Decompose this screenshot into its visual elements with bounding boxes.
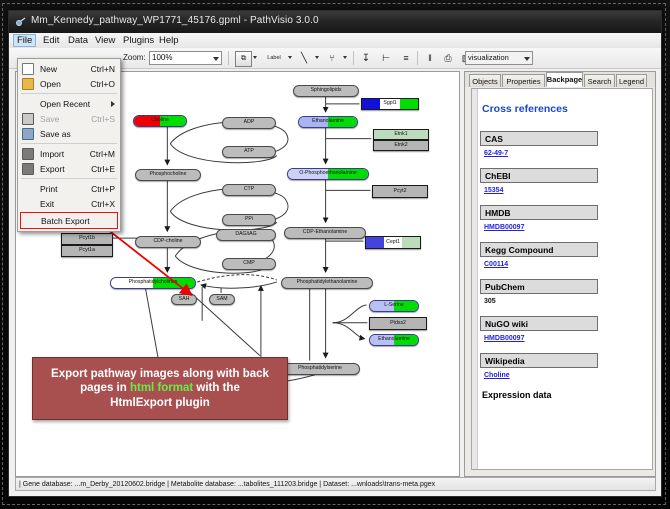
node-label: SAM	[216, 297, 227, 302]
node-label: ADP	[244, 120, 255, 125]
node-label: Pcyt1a	[79, 248, 95, 253]
tab-objects[interactable]: Objects	[469, 74, 501, 87]
file-menu-item-import[interactable]: ImportCtrl+M	[18, 146, 120, 161]
zoom-combobox[interactable]: 100%	[149, 51, 222, 65]
menu-item-file[interactable]: File	[13, 34, 36, 47]
file-menu-item-save: SaveCtrl+S	[18, 111, 120, 126]
file-menu-item-shortcut: Ctrl+N	[91, 64, 115, 74]
backpage-content: Cross references CAS62-49-7ChEBI15354HMD…	[480, 89, 650, 469]
node-label: CTP	[244, 187, 254, 192]
annotation-line2a: pages in	[80, 382, 130, 394]
pathway-node-metabolite[interactable]: Phosphocholine	[135, 169, 201, 181]
open-folder-icon	[22, 78, 34, 90]
file-menu-item-label: Batch Export	[41, 216, 90, 226]
visualization-combobox[interactable]: visualization	[465, 51, 533, 65]
pathway-node-metabolite[interactable]: SAM	[209, 294, 235, 305]
node-label: Etnk2	[394, 143, 407, 148]
export-icon	[22, 163, 34, 175]
chevron-down-icon	[213, 57, 219, 61]
menu-separator	[21, 178, 117, 179]
pathway-node-metabolite[interactable]: Choline	[133, 115, 187, 127]
panel-scrollbar[interactable]	[472, 89, 478, 469]
label-button[interactable]: Label	[263, 51, 285, 65]
pathway-node-metabolite[interactable]: SAH	[171, 294, 197, 305]
pathway-node-geneproduct[interactable]: Pcyt1b	[61, 233, 113, 245]
align-top-button[interactable]: ↧	[359, 51, 373, 65]
tab-legend[interactable]: Legend	[616, 74, 647, 87]
outer-frame: Mm_Kennedy_pathway_WP1771_45176.gpml - P…	[0, 0, 670, 509]
node-label: Pcyt2	[394, 189, 407, 194]
menu-separator	[21, 143, 117, 144]
pathway-node-metabolite[interactable]: DAG/iAG	[216, 229, 276, 241]
cross-reference-link[interactable]: HMDB00097	[484, 335, 650, 342]
save-as-icon	[22, 128, 34, 140]
cross-reference-name: PubChem	[480, 279, 598, 294]
node-label: Phosphocholine	[150, 172, 187, 177]
node-label: DAG/iAG	[235, 232, 256, 237]
annotation-highlight: html format	[130, 382, 193, 394]
pathway-node-metabolite[interactable]: CDP-choline	[135, 236, 201, 248]
pathway-node-metabolite[interactable]: Ethanolamine	[369, 334, 419, 346]
side-panel: Objects Properties Backpage Search Legen…	[464, 71, 656, 477]
file-menu-item-batch-export[interactable]: Batch Export	[20, 212, 118, 229]
node-label: CMP	[243, 261, 255, 266]
tab-search[interactable]: Search	[584, 74, 615, 87]
cross-reference-name: Wikipedia	[480, 353, 598, 368]
save-icon	[22, 113, 34, 125]
file-menu-item-open-recent[interactable]: Open Recent	[18, 96, 120, 111]
file-menu-dropdown[interactable]: NewCtrl+NOpenCtrl+OOpen RecentSaveCtrl+S…	[17, 58, 121, 232]
align-left-button[interactable]: ⊢	[379, 51, 393, 65]
title-bar: Mm_Kennedy_pathway_WP1771_45176.gpml - P…	[9, 11, 661, 34]
node-label: Etnk1	[394, 132, 407, 137]
pathway-node-metabolite[interactable]: CTP	[222, 184, 276, 196]
interaction-button[interactable]: ⑂	[325, 51, 339, 65]
menu-item-plugins[interactable]: Plugins	[119, 34, 158, 47]
annotation-line2b: with the	[193, 382, 240, 394]
expression-data-heading: Expression data	[482, 390, 650, 400]
cross-reference-link[interactable]: 62-49-7	[484, 150, 650, 157]
file-menu-item-shortcut: Ctrl+O	[90, 79, 115, 89]
node-label: CDP-Ethanolamine	[303, 230, 347, 235]
node-label: SAH	[179, 297, 190, 302]
file-menu-item-label: Export	[40, 164, 65, 174]
menu-item-help[interactable]: Help	[155, 34, 183, 47]
cross-reference-name: CAS	[480, 131, 598, 146]
toolbar-separator	[417, 51, 418, 65]
pathway-node-metabolite[interactable]: PPi	[222, 214, 276, 226]
file-menu-item-label: Save as	[40, 129, 71, 139]
pathway-node-geneproduct[interactable]: Pcyt2	[372, 185, 428, 198]
node-label: L-Serine	[384, 303, 404, 308]
node-label: Sgpl1	[383, 101, 396, 106]
pathway-node-geneproduct[interactable]: Sgpl1	[361, 98, 419, 110]
cross-reference-value: 305	[484, 298, 650, 305]
node-label: CDP-choline	[153, 239, 182, 244]
file-menu-item-label: New	[40, 64, 57, 74]
file-menu-item-label: Open	[40, 79, 61, 89]
pathway-node-geneproduct[interactable]: Pcyt1a	[61, 245, 113, 257]
pathway-node-metabolite[interactable]: O-Phosphoethanolamine	[287, 168, 369, 180]
node-label: Phosphatidylserine	[298, 366, 342, 371]
cross-reference-link[interactable]: 15354	[484, 187, 650, 194]
gpml-shape-button[interactable]: ⧉	[235, 51, 252, 67]
node-label: ATP	[244, 149, 254, 154]
file-menu-item-label: Print	[40, 184, 57, 194]
file-menu-item-shortcut: Ctrl+P	[91, 184, 115, 194]
cross-reference-link[interactable]: HMDB00097	[484, 224, 650, 231]
tab-backpage[interactable]: Backpage	[546, 72, 583, 87]
file-menu-item-label: Open Recent	[40, 99, 90, 109]
cross-reference-name: NuGO wiki	[480, 316, 598, 331]
node-fill-segment	[366, 237, 384, 248]
cross-reference-name: ChEBI	[480, 168, 598, 183]
node-fill-segment	[402, 237, 420, 248]
annotation-callout: Export pathway images along with back pa…	[32, 357, 288, 420]
file-menu-item-save-as[interactable]: Save as	[18, 126, 120, 141]
print-button[interactable]: ⎙	[441, 51, 455, 65]
pathway-node-metabolite[interactable]: ADP	[222, 117, 276, 129]
cross-reference-link[interactable]: Choline	[484, 372, 650, 379]
file-menu-item-shortcut: Ctrl+E	[91, 164, 115, 174]
pathway-node-metabolite[interactable]: CMP	[222, 258, 276, 270]
zoom-label: Zoom:	[123, 53, 146, 62]
file-menu-item-export[interactable]: ExportCtrl+E	[18, 161, 120, 176]
chevron-down-icon	[524, 57, 530, 61]
application-window: Mm_Kennedy_pathway_WP1771_45176.gpml - P…	[8, 10, 662, 497]
distribute-button[interactable]: ≡	[399, 51, 413, 65]
pathway-node-metabolite[interactable]: ATP	[222, 146, 276, 158]
node-fill-segment	[400, 99, 418, 109]
menu-item-data[interactable]: Data	[64, 34, 92, 47]
cross-reference-name: Kegg Compound	[480, 242, 598, 257]
file-menu-item-open[interactable]: OpenCtrl+O	[18, 76, 120, 91]
annotation-line1: Export pathway images along with back	[51, 368, 269, 380]
pathway-node-metabolite[interactable]: CDP-Ethanolamine	[284, 227, 366, 239]
chevron-down-icon[interactable]	[253, 56, 257, 59]
pathway-node-metabolite[interactable]: Ethanolamine	[298, 116, 358, 128]
file-menu-item-shortcut: Ctrl+X	[91, 199, 115, 209]
pathway-node-geneproduct[interactable]: Etnk1	[373, 129, 429, 140]
file-menu-item-shortcut: Ctrl+M	[90, 149, 115, 159]
panel-tab-bar: Objects Properties Backpage Search Legen…	[465, 72, 655, 87]
backpage-body: Cross references CAS62-49-7ChEBI15354HMD…	[471, 88, 653, 470]
menu-item-edit[interactable]: Edit	[39, 34, 63, 47]
menu-bar: File Edit Data View Plugins Help	[9, 33, 661, 49]
node-label: Phosphatidylethanolamine	[297, 280, 358, 285]
window-title: Mm_Kennedy_pathway_WP1771_45176.gpml - P…	[31, 15, 319, 26]
file-menu-item-exit[interactable]: ExitCtrl+X	[18, 196, 120, 211]
cross-reference-link[interactable]: C00114	[484, 261, 650, 268]
file-menu-item-label: Save	[40, 114, 59, 124]
pathway-node-geneproduct[interactable]: Cept1	[365, 236, 421, 249]
pathway-node-metabolite[interactable]: Phosphatidylethanolamine	[281, 277, 373, 289]
node-label: Ethanolamine	[378, 337, 410, 342]
toolbar-separator	[228, 51, 229, 65]
zoom-value: 100%	[152, 53, 172, 62]
toolbar-separator	[353, 51, 354, 65]
import-icon	[22, 148, 34, 160]
file-menu-item-label: Import	[40, 149, 64, 159]
node-label: Pcyt1b	[79, 236, 95, 241]
pathway-node-metabolite[interactable]: L-Serine	[369, 300, 419, 312]
status-bar: | Gene database: ...m_Derby_20120602.bri…	[15, 477, 656, 491]
visualization-value: visualization	[468, 53, 509, 62]
chevron-down-icon[interactable]	[315, 56, 319, 59]
menu-item-view[interactable]: View	[91, 34, 119, 47]
node-label: Ptdss2	[390, 321, 406, 326]
stack-columns-button[interactable]: ‖	[423, 51, 437, 65]
tab-properties[interactable]: Properties	[502, 74, 545, 87]
node-label: Sphingolipids	[311, 88, 342, 93]
annotation-line3: HtmlExport plugin	[110, 397, 210, 409]
line-button[interactable]: ╲	[297, 51, 311, 65]
node-label: Phosphatidylcholines	[129, 280, 178, 285]
new-document-icon	[22, 63, 34, 75]
pathway-node-geneproduct[interactable]: Ptdss2	[369, 317, 427, 330]
chevron-down-icon[interactable]	[288, 56, 292, 59]
pathway-node-metabolite[interactable]: Phosphatidylcholines	[110, 277, 196, 289]
cross-reference-name: HMDB	[480, 205, 598, 220]
node-fill-segment	[362, 99, 380, 109]
file-menu-item-shortcut: Ctrl+S	[91, 114, 115, 124]
node-label: PPi	[245, 217, 253, 222]
node-label: O-Phosphoethanolamine	[299, 171, 356, 176]
chevron-down-icon[interactable]	[343, 56, 347, 59]
cross-reference-list: CAS62-49-7ChEBI15354HMDBHMDB00097Kegg Co…	[480, 131, 650, 379]
node-label: Choline	[151, 118, 169, 123]
pathway-node-metabolite[interactable]: Phosphatidylserine	[280, 363, 360, 375]
file-menu-item-new[interactable]: NewCtrl+N	[18, 61, 120, 76]
node-label: Cept1	[386, 240, 400, 245]
pathway-node-metabolite[interactable]: Sphingolipids	[293, 85, 359, 97]
pathway-node-geneproduct[interactable]: Etnk2	[373, 140, 429, 151]
chevron-right-icon	[111, 101, 115, 107]
file-menu-item-label: Exit	[40, 199, 54, 209]
pathvisio-icon	[15, 16, 27, 28]
menu-separator	[21, 93, 117, 94]
cross-references-heading: Cross references	[482, 103, 650, 115]
node-label: Ethanolamine	[312, 119, 344, 124]
file-menu-item-print[interactable]: PrintCtrl+P	[18, 181, 120, 196]
